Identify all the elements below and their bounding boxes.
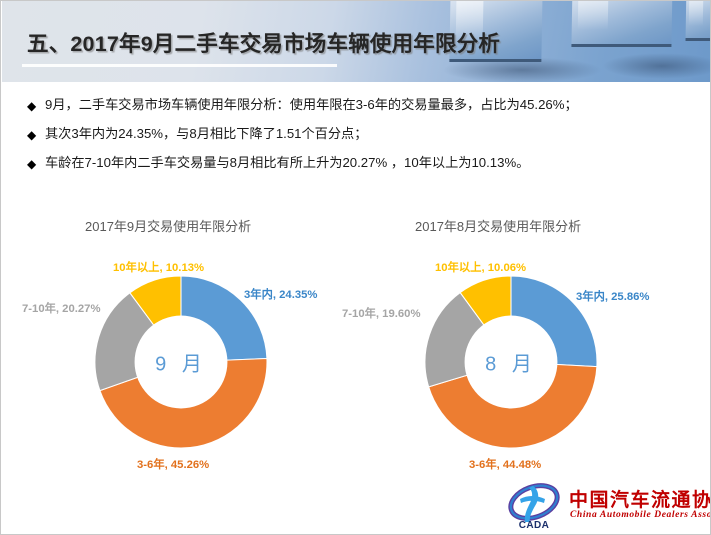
donut-label-august-7to10y: 7-10年, 19.60% [342, 305, 421, 321]
page-title: 五、2017年9月二手车交易市场车辆使用年限分析 [27, 27, 500, 58]
cube-gloss [689, 1, 703, 26]
donut-label-september-3to6y: 3-6年, 45.26% [137, 456, 209, 472]
donut-label-september-7to10y: 7-10年, 20.27% [22, 300, 101, 316]
cada-logo: CADA 中国汽车流通协会 China Automobile Dealers A… [507, 482, 703, 532]
svg-text:CADA: CADA [519, 520, 550, 530]
bullet-text: 车龄在7-10年内二手车交易量与8月相比有所上升为20.27% ，10年以上为1… [45, 151, 687, 176]
diamond-bullet-icon: ◆ [27, 151, 45, 176]
bullet-text: 9月，二手车交易市场车辆使用年限分析：使用年限在3-6年的交易量最多，占比为45… [45, 93, 687, 118]
slide: 五、2017年9月二手车交易市场车辆使用年限分析 ◆ 9月，二手车交易市场车辆使… [0, 0, 711, 535]
logo-english-name: China Automobile Dealers Association [570, 510, 711, 520]
decorative-cube [686, 1, 711, 41]
logo-chinese-name: 中国汽车流通协会 [569, 485, 711, 512]
diamond-bullet-icon: ◆ [27, 93, 45, 118]
cada-emblem-icon: CADA [507, 482, 565, 530]
bullet-item: ◆ 其次3年内为24.35%，与8月相比下降了1.51个百分点； [27, 122, 687, 147]
title-underline [22, 64, 337, 67]
donut-label-september-within3y: 3年内, 24.35% [244, 286, 317, 302]
donut-center-label-august: 8 月 [425, 348, 597, 377]
donut-label-september-over10y: 10年以上, 10.13% [113, 259, 204, 275]
bullet-text: 其次3年内为24.35%，与8月相比下降了1.51个百分点； [45, 122, 687, 147]
donut-label-august-3to6y: 3-6年, 44.48% [469, 456, 541, 472]
bullet-list: ◆ 9月，二手车交易市场车辆使用年限分析：使用年限在3-6年的交易量最多，占比为… [27, 93, 687, 180]
cube-shadow [602, 53, 711, 79]
bullet-item: ◆ 车龄在7-10年内二手车交易量与8月相比有所上升为20.27% ，10年以上… [27, 151, 687, 176]
chart-title-august: 2017年8月交易使用年限分析 [415, 216, 581, 235]
decorative-cube [571, 1, 672, 47]
diamond-bullet-icon: ◆ [27, 122, 45, 147]
cube-gloss [578, 1, 609, 30]
bullet-item: ◆ 9月，二手车交易市场车辆使用年限分析：使用年限在3-6年的交易量最多，占比为… [27, 93, 687, 118]
donut-label-august-over10y: 10年以上, 10.06% [435, 259, 526, 275]
donut-center-label-september: 9 月 [95, 348, 267, 377]
donut-chart-september: 9 月 [95, 276, 267, 448]
chart-title-september: 2017年9月交易使用年限分析 [85, 216, 251, 235]
donut-label-august-within3y: 3年内, 25.86% [576, 288, 649, 304]
donut-chart-august: 8 月 [425, 276, 597, 448]
